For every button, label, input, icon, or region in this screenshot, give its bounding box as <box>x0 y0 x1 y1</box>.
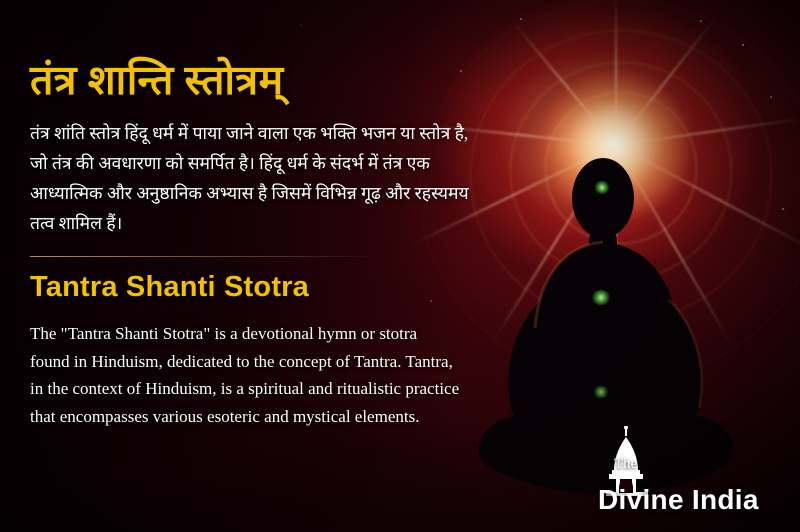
logo-the-text: The <box>614 456 637 473</box>
star <box>300 24 302 26</box>
hindi-title: तंत्र शान्ति स्तोत्रम् <box>30 58 482 104</box>
brand-logo[interactable]: The Divine India <box>594 426 786 522</box>
star <box>770 96 772 98</box>
star <box>520 18 522 20</box>
light-ray-10 <box>615 0 617 145</box>
logo-name-text: Divine India <box>598 484 759 516</box>
poster-canvas: तंत्र शान्ति स्तोत्रम् तंत्र शांति स्तोत… <box>0 0 800 532</box>
text-content-block: तंत्र शान्ति स्तोत्रम् तंत्र शांति स्तोत… <box>30 58 482 430</box>
english-title: Tantra Shanti Stotra <box>30 271 482 304</box>
hindi-description: तंत्र शांति स्तोत्र हिंदू धर्म में पाया … <box>30 118 482 238</box>
star <box>742 44 744 46</box>
star <box>700 20 702 22</box>
english-description: The "Tantra Shanti Stotra" is a devotion… <box>30 320 460 430</box>
chakra-third-eye <box>594 181 610 194</box>
chakra-heart <box>591 290 611 305</box>
section-divider <box>30 256 376 257</box>
chakra-navel <box>593 386 609 398</box>
